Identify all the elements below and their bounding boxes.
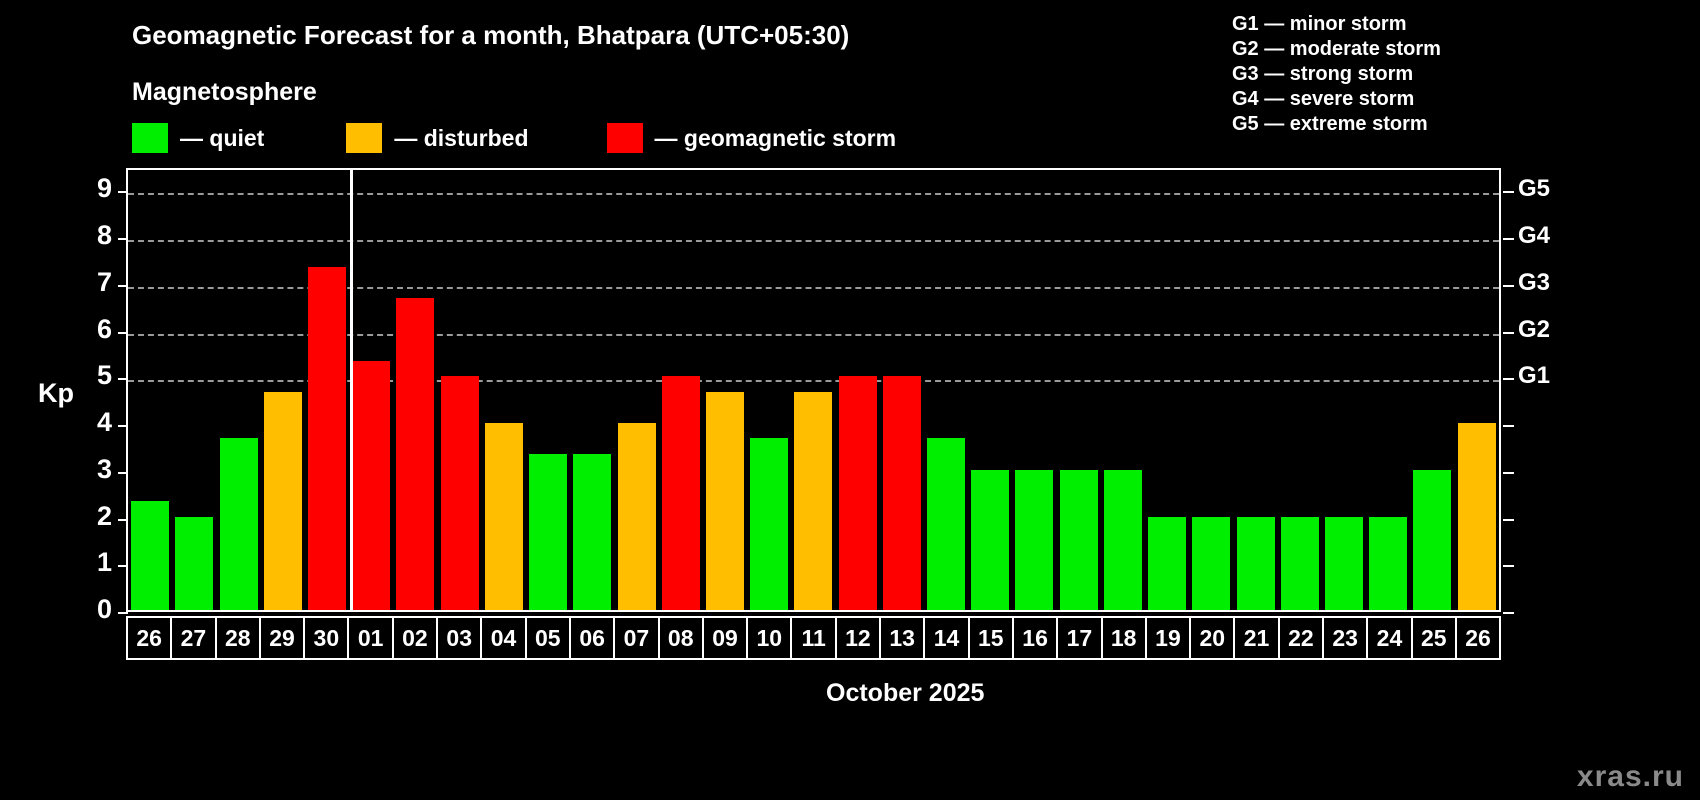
- bar-day-20[interactable]: [1192, 517, 1230, 610]
- bar-cell[interactable]: [880, 170, 924, 610]
- legend-label-quiet: — quiet: [180, 125, 264, 152]
- bar-cell[interactable]: [1012, 170, 1056, 610]
- g-axis-minor-tick-1: [1503, 565, 1514, 567]
- x-axis-title: October 2025: [826, 679, 984, 708]
- bar-day-05[interactable]: [529, 454, 567, 610]
- bar-day-13[interactable]: [883, 376, 921, 610]
- bar-day-22[interactable]: [1281, 517, 1319, 610]
- bar-day-23[interactable]: [1325, 517, 1363, 610]
- legend-label-disturbed: — disturbed: [394, 125, 528, 152]
- bar-day-15[interactable]: [971, 470, 1009, 610]
- day-label-13[interactable]: 13: [881, 618, 925, 658]
- day-label-29[interactable]: 29: [261, 618, 305, 658]
- bar-cell[interactable]: [172, 170, 216, 610]
- day-label-12[interactable]: 12: [837, 618, 881, 658]
- day-label-25[interactable]: 25: [1413, 618, 1457, 658]
- bar-series: [128, 170, 1499, 610]
- g-axis-minor-tick-3: [1503, 472, 1514, 474]
- day-label-02[interactable]: 02: [394, 618, 438, 658]
- legend: — quiet— disturbed— geomagnetic storm: [132, 123, 896, 153]
- bar-day-21[interactable]: [1237, 517, 1275, 610]
- legend-heading: Magnetosphere: [132, 78, 317, 107]
- day-label-23[interactable]: 23: [1324, 618, 1368, 658]
- y-tick-label-1: 1: [72, 547, 112, 578]
- bar-cell[interactable]: [659, 170, 703, 610]
- bar-day-26[interactable]: [131, 501, 169, 610]
- day-label-10[interactable]: 10: [748, 618, 792, 658]
- y-tick-label-0: 0: [72, 594, 112, 625]
- month-divider: [350, 170, 353, 610]
- y-tick-label-6: 6: [72, 314, 112, 345]
- g-axis-minor-tick-4: [1503, 425, 1514, 427]
- bar-day-07[interactable]: [618, 423, 656, 610]
- bar-cell[interactable]: [1366, 170, 1410, 610]
- g-scale-line-5: G5 — extreme storm: [1232, 112, 1441, 137]
- legend-item-quiet: — quiet: [132, 123, 264, 153]
- day-label-21[interactable]: 21: [1235, 618, 1279, 658]
- day-label-28[interactable]: 28: [217, 618, 261, 658]
- bar-day-28[interactable]: [220, 438, 258, 610]
- legend-swatch-disturbed: [346, 123, 382, 153]
- g-axis-label-G3: G3: [1518, 269, 1578, 297]
- day-label-04[interactable]: 04: [482, 618, 526, 658]
- bar-cell[interactable]: [1189, 170, 1233, 610]
- plot-area: [126, 168, 1501, 612]
- bar-cell[interactable]: [1410, 170, 1454, 610]
- g-axis-tick-G3: [1503, 285, 1514, 287]
- day-label-20[interactable]: 20: [1191, 618, 1235, 658]
- bar-cell[interactable]: [1322, 170, 1366, 610]
- bar-cell[interactable]: [438, 170, 482, 610]
- g-axis-tick-G4: [1503, 238, 1514, 240]
- bar-cell[interactable]: [836, 170, 880, 610]
- day-label-30[interactable]: 30: [305, 618, 349, 658]
- day-label-15[interactable]: 15: [970, 618, 1014, 658]
- bar-cell[interactable]: [570, 170, 614, 610]
- y-tick-label-5: 5: [72, 360, 112, 391]
- bar-day-11[interactable]: [794, 392, 832, 610]
- bar-day-27[interactable]: [175, 517, 213, 610]
- bar-cell[interactable]: [747, 170, 791, 610]
- day-label-18[interactable]: 18: [1103, 618, 1147, 658]
- bar-cell[interactable]: [614, 170, 658, 610]
- g-scale-line-4: G4 — severe storm: [1232, 87, 1441, 112]
- day-label-26[interactable]: 26: [128, 618, 172, 658]
- bar-cell[interactable]: [791, 170, 835, 610]
- y-tick-label-4: 4: [72, 407, 112, 438]
- bar-cell[interactable]: [1278, 170, 1322, 610]
- watermark: xras.ru: [1577, 760, 1684, 794]
- bar-cell[interactable]: [1101, 170, 1145, 610]
- bar-cell[interactable]: [393, 170, 437, 610]
- day-label-03[interactable]: 03: [438, 618, 482, 658]
- y-tick-label-9: 9: [72, 173, 112, 204]
- bar-day-17[interactable]: [1060, 470, 1098, 610]
- bar-day-25[interactable]: [1413, 470, 1451, 610]
- bar-day-19[interactable]: [1148, 517, 1186, 610]
- bar-cell[interactable]: [305, 170, 349, 610]
- bar-cell[interactable]: [1455, 170, 1499, 610]
- g-axis-tick-G1: [1503, 378, 1514, 380]
- day-label-24[interactable]: 24: [1368, 618, 1412, 658]
- day-label-26[interactable]: 26: [1457, 618, 1499, 658]
- bar-day-06[interactable]: [573, 454, 611, 610]
- legend-item-disturbed: — disturbed: [346, 123, 528, 153]
- y-tick-label-7: 7: [72, 267, 112, 298]
- day-label-07[interactable]: 07: [615, 618, 659, 658]
- g-scale-line-3: G3 — strong storm: [1232, 62, 1441, 87]
- legend-swatch-quiet: [132, 123, 168, 153]
- bar-cell[interactable]: [1233, 170, 1277, 610]
- day-label-16[interactable]: 16: [1014, 618, 1058, 658]
- bar-day-01[interactable]: [352, 361, 390, 610]
- bar-cell[interactable]: [1057, 170, 1101, 610]
- g-scale-line-1: G1 — minor storm: [1232, 12, 1441, 37]
- bar-day-03[interactable]: [441, 376, 479, 610]
- g-axis-label-G5: G5: [1518, 175, 1578, 203]
- x-axis-day-labels: 2627282930010203040506070809101112131415…: [126, 616, 1501, 660]
- g-scale-line-2: G2 — moderate storm: [1232, 37, 1441, 62]
- g-axis-tick-G2: [1503, 332, 1514, 334]
- bar-cell[interactable]: [968, 170, 1012, 610]
- page-title: Geomagnetic Forecast for a month, Bhatpa…: [132, 20, 849, 51]
- day-label-22[interactable]: 22: [1280, 618, 1324, 658]
- legend-swatch-storm: [607, 123, 643, 153]
- bar-day-12[interactable]: [839, 376, 877, 610]
- legend-label-storm: — geomagnetic storm: [655, 125, 897, 152]
- g-axis-minor-tick-0: [1503, 612, 1514, 614]
- bar-day-24[interactable]: [1369, 517, 1407, 610]
- bar-cell[interactable]: [482, 170, 526, 610]
- bar-cell[interactable]: [261, 170, 305, 610]
- bar-day-10[interactable]: [750, 438, 788, 610]
- g-scale-legend: G1 — minor stormG2 — moderate stormG3 — …: [1232, 12, 1441, 137]
- y-tick-label-3: 3: [72, 454, 112, 485]
- g-axis-label-G2: G2: [1518, 316, 1578, 344]
- bar-day-09[interactable]: [706, 392, 744, 610]
- day-label-27[interactable]: 27: [172, 618, 216, 658]
- y-tick-label-8: 8: [72, 220, 112, 251]
- bar-day-04[interactable]: [485, 423, 523, 610]
- day-label-14[interactable]: 14: [925, 618, 969, 658]
- y-tick-label-2: 2: [72, 501, 112, 532]
- bar-cell[interactable]: [526, 170, 570, 610]
- day-label-17[interactable]: 17: [1058, 618, 1102, 658]
- bar-day-08[interactable]: [662, 376, 700, 610]
- bar-cell[interactable]: [349, 170, 393, 610]
- bar-cell[interactable]: [128, 170, 172, 610]
- bar-day-16[interactable]: [1015, 470, 1053, 610]
- legend-item-storm: — geomagnetic storm: [607, 123, 897, 153]
- bar-cell[interactable]: [703, 170, 747, 610]
- y-tick-0: [118, 612, 128, 614]
- g-axis-minor-tick-2: [1503, 519, 1514, 521]
- bar-day-30[interactable]: [308, 267, 346, 610]
- day-label-11[interactable]: 11: [792, 618, 836, 658]
- day-label-05[interactable]: 05: [527, 618, 571, 658]
- g-axis-tick-G5: [1503, 191, 1514, 193]
- bar-day-26[interactable]: [1458, 423, 1496, 610]
- day-label-09[interactable]: 09: [704, 618, 748, 658]
- g-axis-label-G4: G4: [1518, 222, 1578, 250]
- bar-cell[interactable]: [924, 170, 968, 610]
- y-axis-title: Kp: [38, 378, 74, 409]
- day-label-01[interactable]: 01: [349, 618, 393, 658]
- day-label-06[interactable]: 06: [571, 618, 615, 658]
- bar-day-14[interactable]: [927, 438, 965, 610]
- g-axis-label-G1: G1: [1518, 362, 1578, 390]
- bar-day-18[interactable]: [1104, 470, 1142, 610]
- day-label-19[interactable]: 19: [1147, 618, 1191, 658]
- bar-day-02[interactable]: [396, 298, 434, 610]
- day-label-08[interactable]: 08: [660, 618, 704, 658]
- bar-day-29[interactable]: [264, 392, 302, 610]
- bar-cell[interactable]: [216, 170, 260, 610]
- chart-root: Geomagnetic Forecast for a month, Bhatpa…: [0, 0, 1700, 800]
- bar-cell[interactable]: [1145, 170, 1189, 610]
